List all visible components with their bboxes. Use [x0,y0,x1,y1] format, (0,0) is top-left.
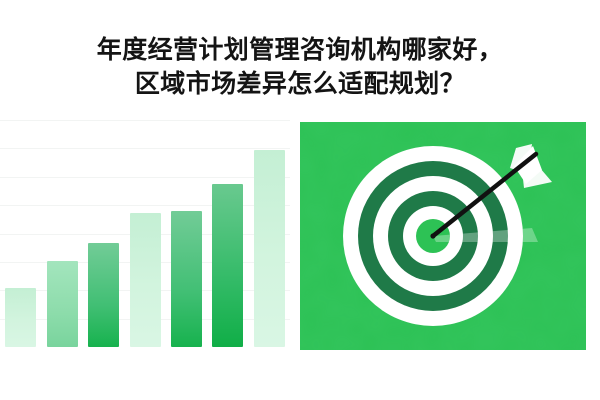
arrow-tip [430,233,435,238]
chart-bars [0,120,290,347]
arrow-fletching [510,144,552,188]
page-title: 年度经营计划管理咨询机构哪家好， 区域市场差异怎么适配规划？ [0,33,600,101]
title-line-1: 年度经营计划管理咨询机构哪家好， [0,33,600,67]
chart-bar [130,213,161,347]
chart-bar [88,243,119,347]
chart-bar [5,288,36,347]
chart-bar [171,211,202,347]
target-icon [300,122,586,350]
bar-chart [0,120,290,352]
chart-bar [47,261,78,347]
chart-bar [254,150,285,347]
target-image-panel [300,122,586,350]
title-line-2: 区域市场差异怎么适配规划？ [0,67,600,101]
chart-bar [212,184,243,347]
article-header-card: 年度经营计划管理咨询机构哪家好， 区域市场差异怎么适配规划？ [0,0,600,400]
